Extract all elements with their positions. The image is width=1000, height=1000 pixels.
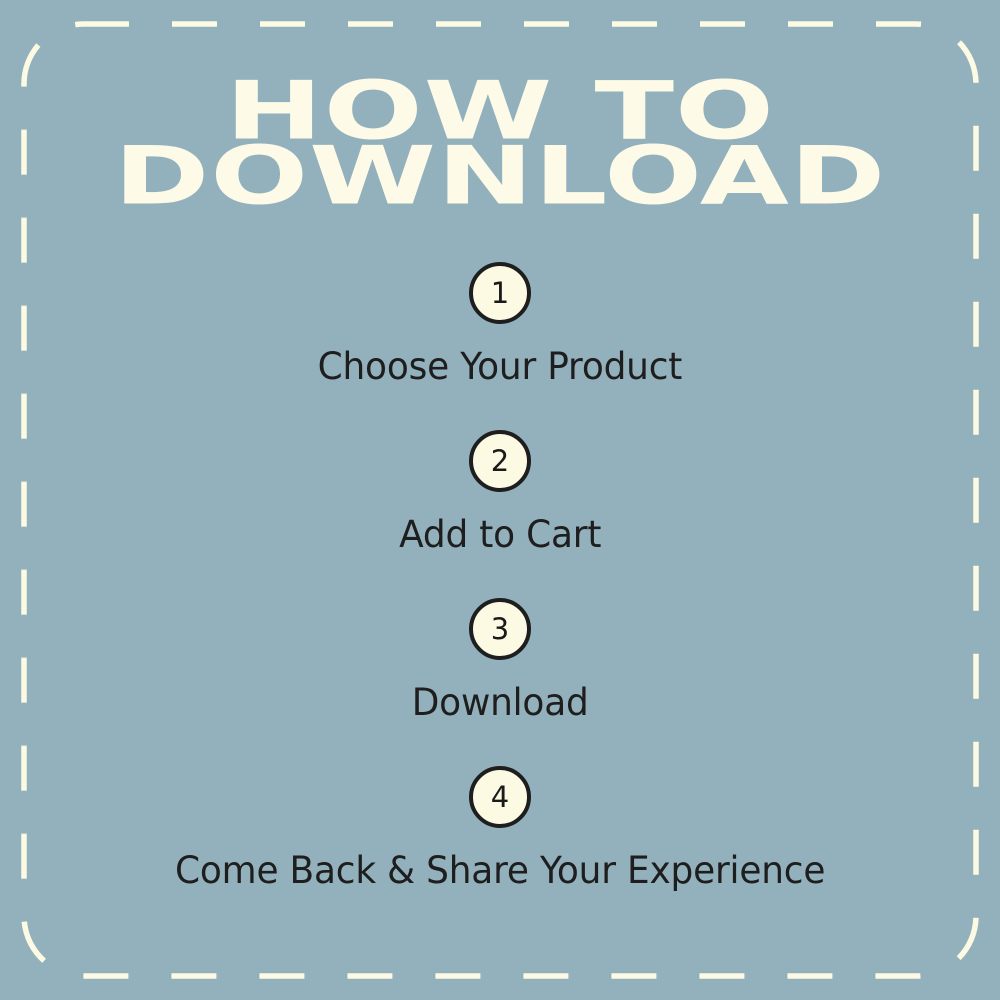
- list-item: 3 Download: [0, 598, 1000, 766]
- steps-list: 1 Choose Your Product 2 Add to Cart 3 Do…: [0, 262, 1000, 934]
- step-label: Choose Your Product: [318, 345, 683, 388]
- page-title: HOW TO DOWNLOAD: [0, 78, 1000, 202]
- poster-canvas: HOW TO DOWNLOAD 1 Choose Your Product 2 …: [0, 0, 1000, 1000]
- list-item: 4 Come Back & Share Your Experience: [0, 766, 1000, 934]
- step-number-badge: 1: [469, 262, 531, 324]
- page-title-line-2: DOWNLOAD: [0, 143, 1000, 209]
- list-item: 2 Add to Cart: [0, 430, 1000, 598]
- step-label: Come Back & Share Your Experience: [175, 849, 825, 892]
- step-number-badge: 3: [469, 598, 531, 660]
- step-number-badge: 2: [469, 430, 531, 492]
- step-number-badge: 4: [469, 766, 531, 828]
- step-label: Add to Cart: [399, 513, 601, 556]
- list-item: 1 Choose Your Product: [0, 262, 1000, 430]
- poster-content: HOW TO DOWNLOAD 1 Choose Your Product 2 …: [0, 0, 1000, 1000]
- step-label: Download: [412, 681, 589, 724]
